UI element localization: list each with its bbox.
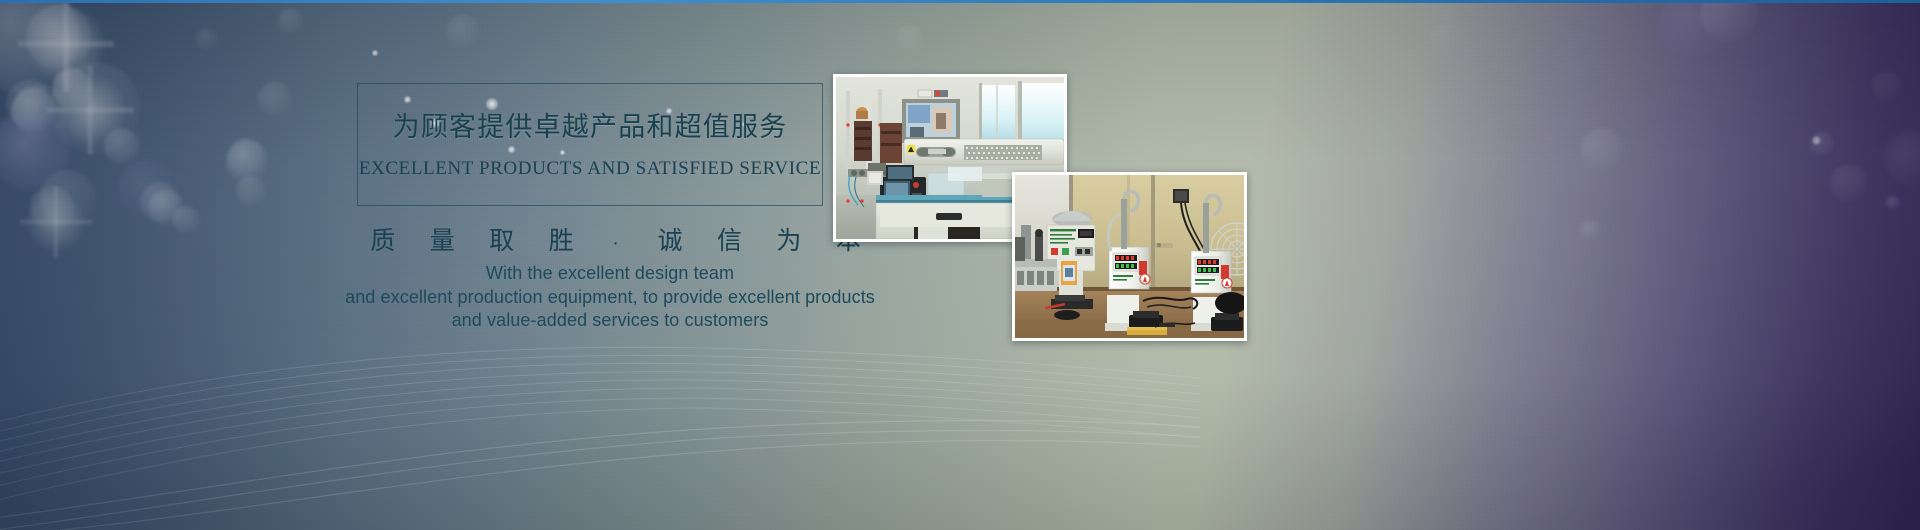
bokeh-circle: [1830, 164, 1868, 202]
headline-english: EXCELLENT PRODUCTS AND SATISFIED SERVICE: [357, 157, 823, 181]
motto-char: 胜: [535, 225, 587, 257]
bokeh-circle: [1580, 220, 1600, 240]
bokeh-speck: [1886, 196, 1900, 210]
bokeh-circle: [1660, 0, 1726, 56]
motto-char: 信: [704, 225, 756, 257]
press-machines-photo-art: [1015, 175, 1244, 338]
press-machines-photo: [1012, 172, 1247, 341]
motto-char: 取: [476, 225, 528, 257]
motto-char: 诚: [644, 225, 696, 257]
bokeh-circle: [1872, 72, 1902, 102]
body-line-2: and excellent production equipment, to p…: [300, 286, 920, 310]
bokeh-speck: [1812, 136, 1821, 145]
bokeh-circle: [1580, 128, 1624, 172]
banner-body-text: With the excellent design team and excel…: [300, 262, 920, 333]
headline-frame: [357, 83, 823, 206]
motto-char: 量: [416, 225, 468, 257]
bokeh-circle: [1700, 0, 1758, 42]
top-accent-rule: [0, 0, 1920, 3]
headline-chinese: 为顾客提供卓越产品和超值服务: [357, 110, 823, 144]
bokeh-circle: [1430, 24, 1456, 50]
motto-char: 为: [763, 225, 815, 257]
motto-separator: ·: [595, 227, 637, 259]
body-line-3: and value-added services to customers: [300, 309, 920, 333]
company-motto: 质 量 取 胜 · 诚 信 为 本: [357, 225, 823, 259]
bokeh-circle: [1810, 132, 1834, 156]
bokeh-circle: [1884, 130, 1920, 186]
motto-char: 质: [357, 225, 409, 257]
company-promo-banner: 为顾客提供卓越产品和超值服务 EXCELLENT PRODUCTS AND SA…: [0, 0, 1920, 530]
body-line-1: With the excellent design team: [300, 262, 920, 286]
